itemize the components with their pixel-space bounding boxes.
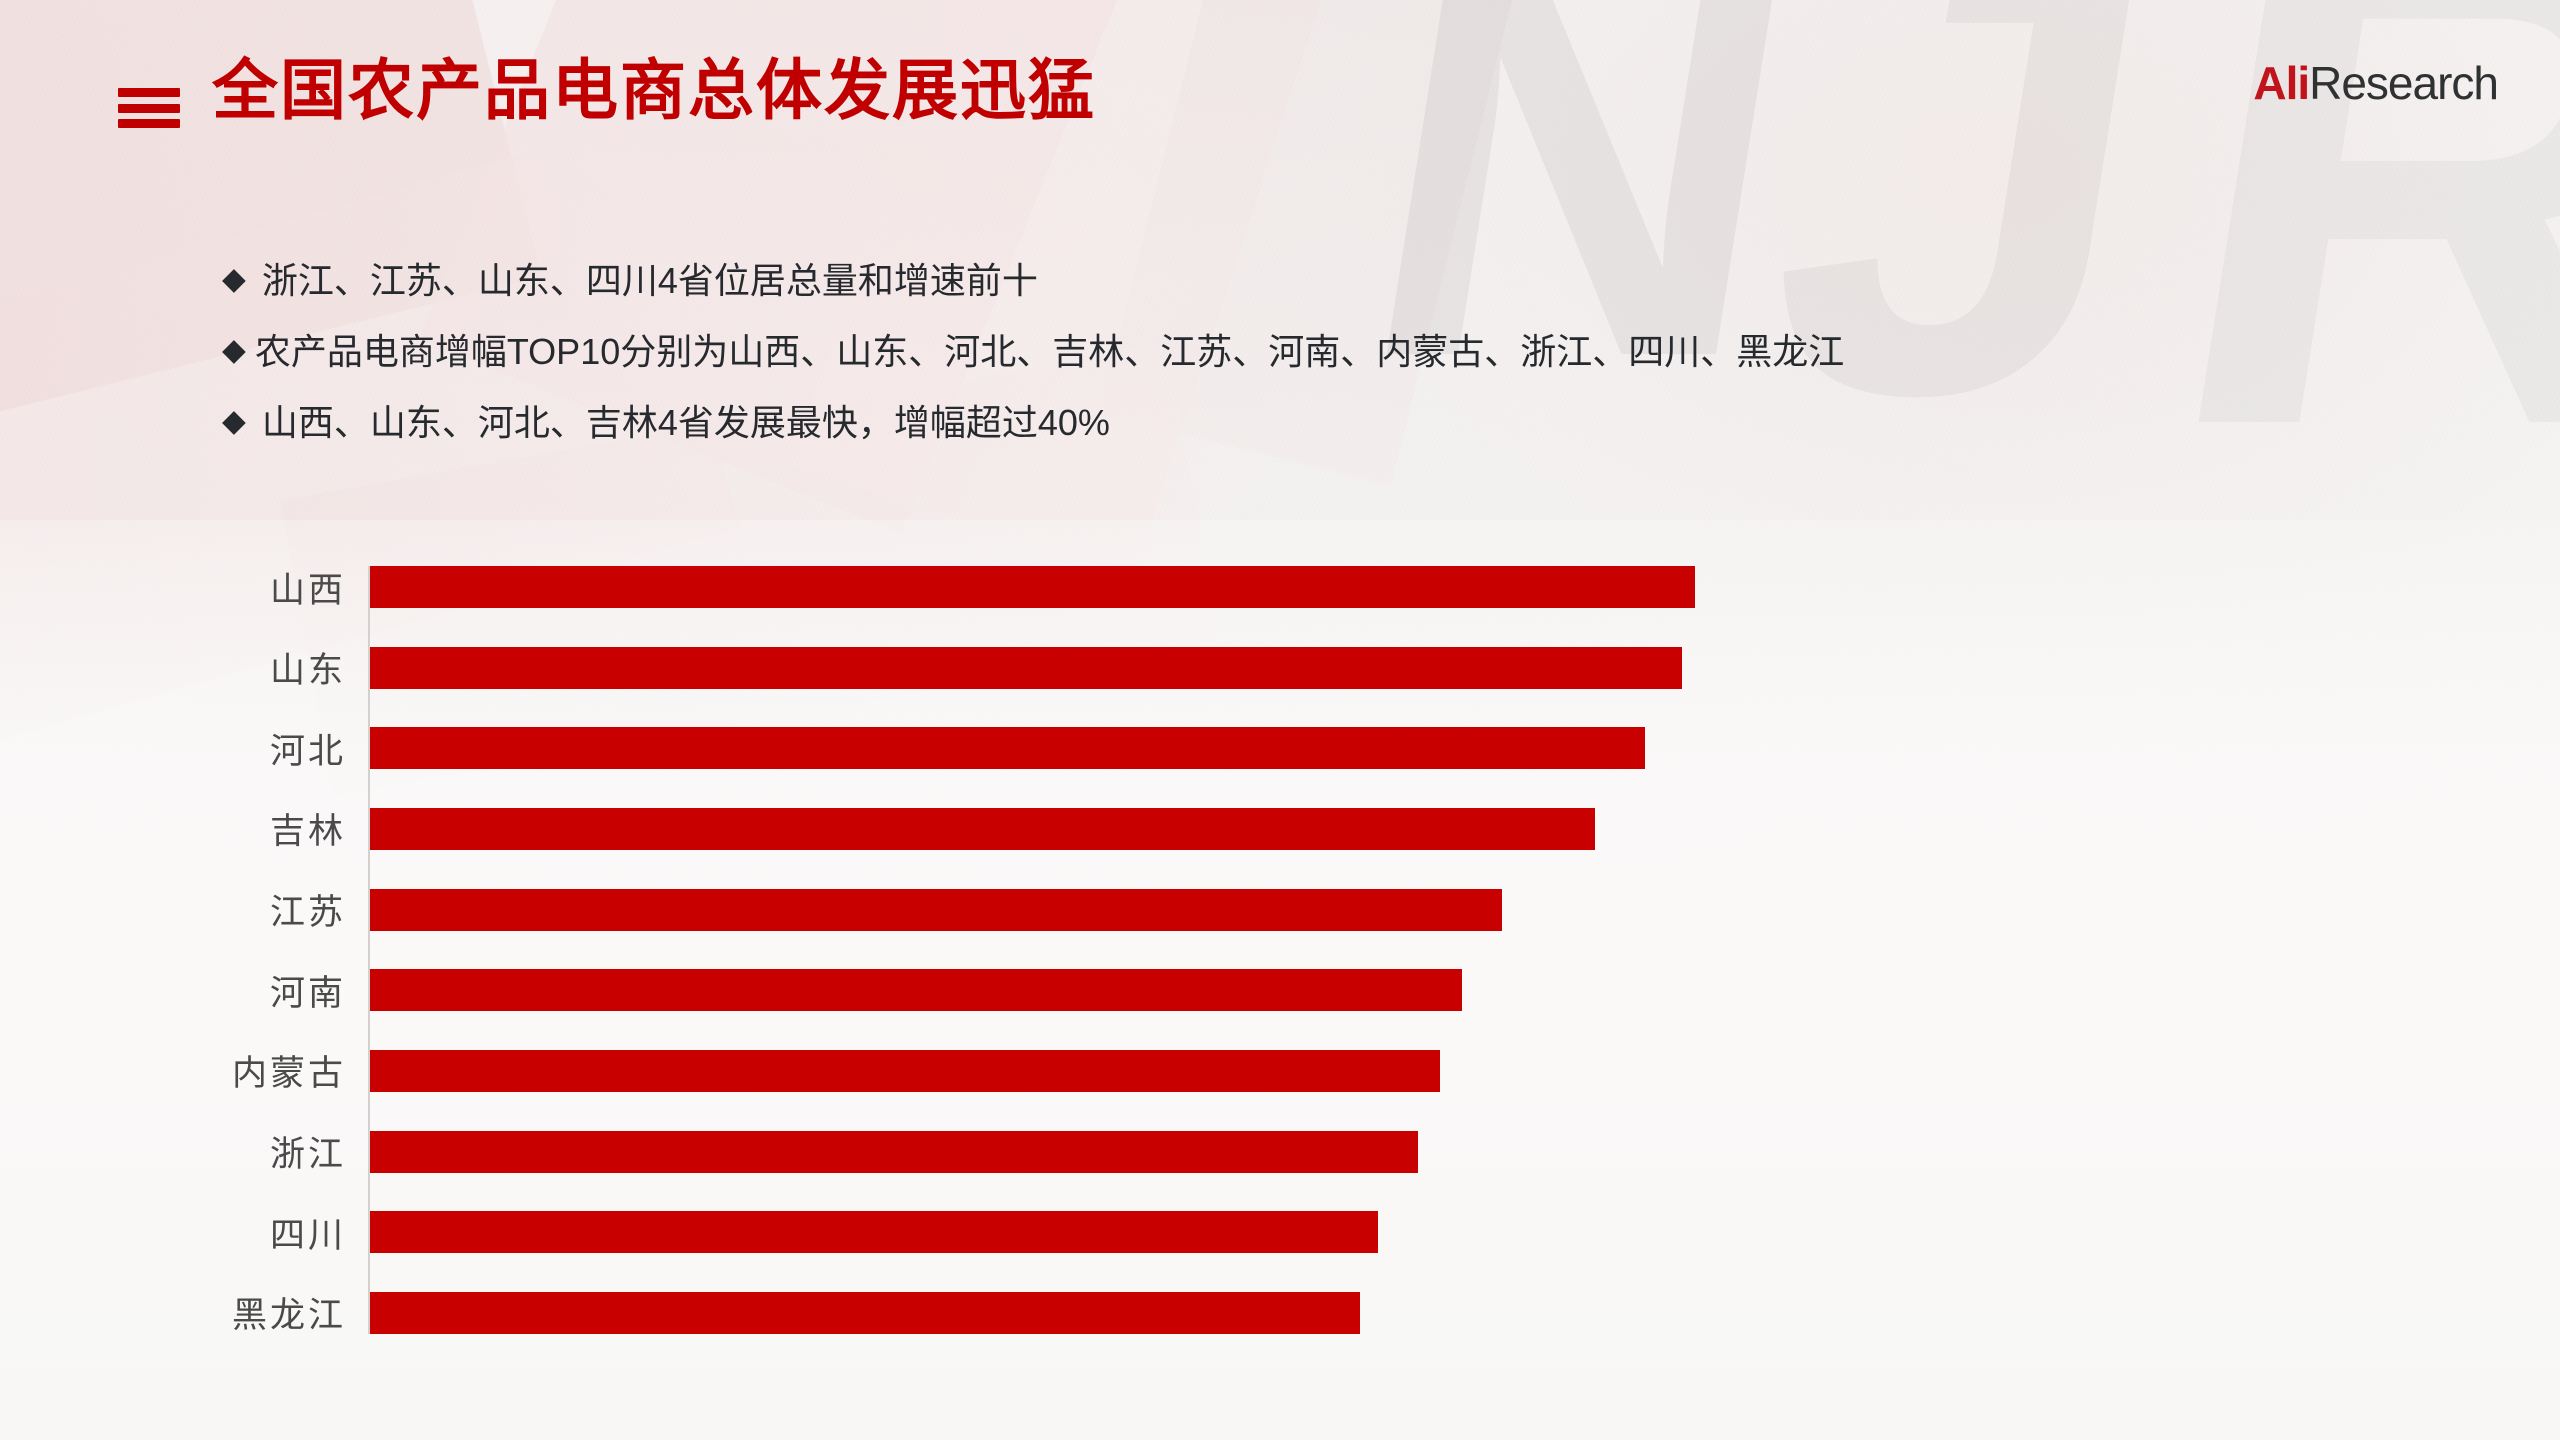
chart-bar-row: 吉林 <box>0 808 2560 850</box>
chart-bar-row: 河北 <box>0 727 2560 769</box>
bullet-item: ◆ 山西、山东、河北、吉林4省发展最快，增幅超过40% <box>222 400 2342 445</box>
chart-bar-track <box>370 1131 2560 1173</box>
diamond-bullet-icon: ◆ <box>222 400 246 442</box>
chart-category-label: 山东 <box>0 642 348 693</box>
slide-header: 全国农产品电商总体发展迅猛 AliResearch <box>0 0 2560 170</box>
chart-bar-row: 内蒙古 <box>0 1050 2560 1092</box>
page-title: 全国农产品电商总体发展迅猛 <box>212 56 1096 125</box>
chart-bar <box>370 1211 1378 1253</box>
chart-bar <box>370 566 1695 608</box>
chart-bar-row: 江苏 <box>0 889 2560 931</box>
chart-bar <box>370 647 1682 689</box>
chart-bar-row: 山西 <box>0 566 2560 608</box>
chart-bar-track <box>370 727 2560 769</box>
chart-category-label: 河南 <box>0 965 348 1016</box>
chart-bar-row: 浙江 <box>0 1131 2560 1173</box>
bar-chart: 山西山东河北吉林江苏河南内蒙古浙江四川黑龙江 <box>0 556 2560 1356</box>
chart-bar <box>370 727 1645 769</box>
chart-bar-track <box>370 889 2560 931</box>
diamond-bullet-icon: ◆ <box>222 258 246 300</box>
chart-category-label: 黑龙江 <box>0 1287 348 1338</box>
chart-category-label: 江苏 <box>0 884 348 935</box>
bullet-text: 山西、山东、河北、吉林4省发展最快，增幅超过40% <box>262 400 1110 445</box>
chart-bar-row: 黑龙江 <box>0 1292 2560 1334</box>
diamond-bullet-icon: ◆ <box>222 329 246 371</box>
chart-bar <box>370 1050 1440 1092</box>
chart-bar-rows: 山西山东河北吉林江苏河南内蒙古浙江四川黑龙江 <box>0 566 2560 1334</box>
hamburger-icon <box>118 88 180 128</box>
chart-bar <box>370 808 1595 850</box>
chart-category-label: 浙江 <box>0 1126 348 1177</box>
chart-bar-row: 河南 <box>0 969 2560 1011</box>
hamburger-bar <box>118 119 180 128</box>
chart-bar <box>370 889 1502 931</box>
hamburger-bar <box>118 88 180 97</box>
bullet-text: 农产品电商增幅TOP10分别为山西、山东、河北、吉林、江苏、河南、内蒙古、浙江、… <box>255 329 1844 374</box>
chart-bar <box>370 1131 1418 1173</box>
logo-ali-text: Ali <box>2253 57 2309 109</box>
chart-bar-row: 山东 <box>0 647 2560 689</box>
bullet-list: ◆ 浙江、江苏、山东、四川4省位居总量和增速前十 ◆ 农产品电商增幅TOP10分… <box>222 258 2342 471</box>
bullet-item: ◆ 农产品电商增幅TOP10分别为山西、山东、河北、吉林、江苏、河南、内蒙古、浙… <box>222 329 2342 374</box>
chart-category-label: 四川 <box>0 1207 348 1258</box>
bullet-text: 浙江、江苏、山东、四川4省位居总量和增速前十 <box>262 258 1038 303</box>
chart-bar-track <box>370 1211 2560 1253</box>
chart-bar-track <box>370 566 2560 608</box>
slide: N J R 全国农产品电商总体发展迅猛 AliResearch ◆ 浙江、江苏、… <box>0 0 2560 1440</box>
logo-research-text: Research <box>2309 57 2498 109</box>
chart-bar-track <box>370 647 2560 689</box>
chart-category-label: 河北 <box>0 723 348 774</box>
chart-bar <box>370 1292 1360 1334</box>
chart-bar-track <box>370 1050 2560 1092</box>
chart-category-label: 吉林 <box>0 803 348 854</box>
chart-bar-track <box>370 1292 2560 1334</box>
chart-category-label: 内蒙古 <box>0 1045 348 1096</box>
chart-category-label: 山西 <box>0 562 348 613</box>
chart-bar-track <box>370 969 2560 1011</box>
chart-bar <box>370 969 1462 1011</box>
chart-bar-track <box>370 808 2560 850</box>
chart-bar-row: 四川 <box>0 1211 2560 1253</box>
bullet-item: ◆ 浙江、江苏、山东、四川4省位居总量和增速前十 <box>222 258 2342 303</box>
hamburger-bar <box>118 104 180 113</box>
aliresearch-logo: AliResearch <box>2253 60 2498 106</box>
